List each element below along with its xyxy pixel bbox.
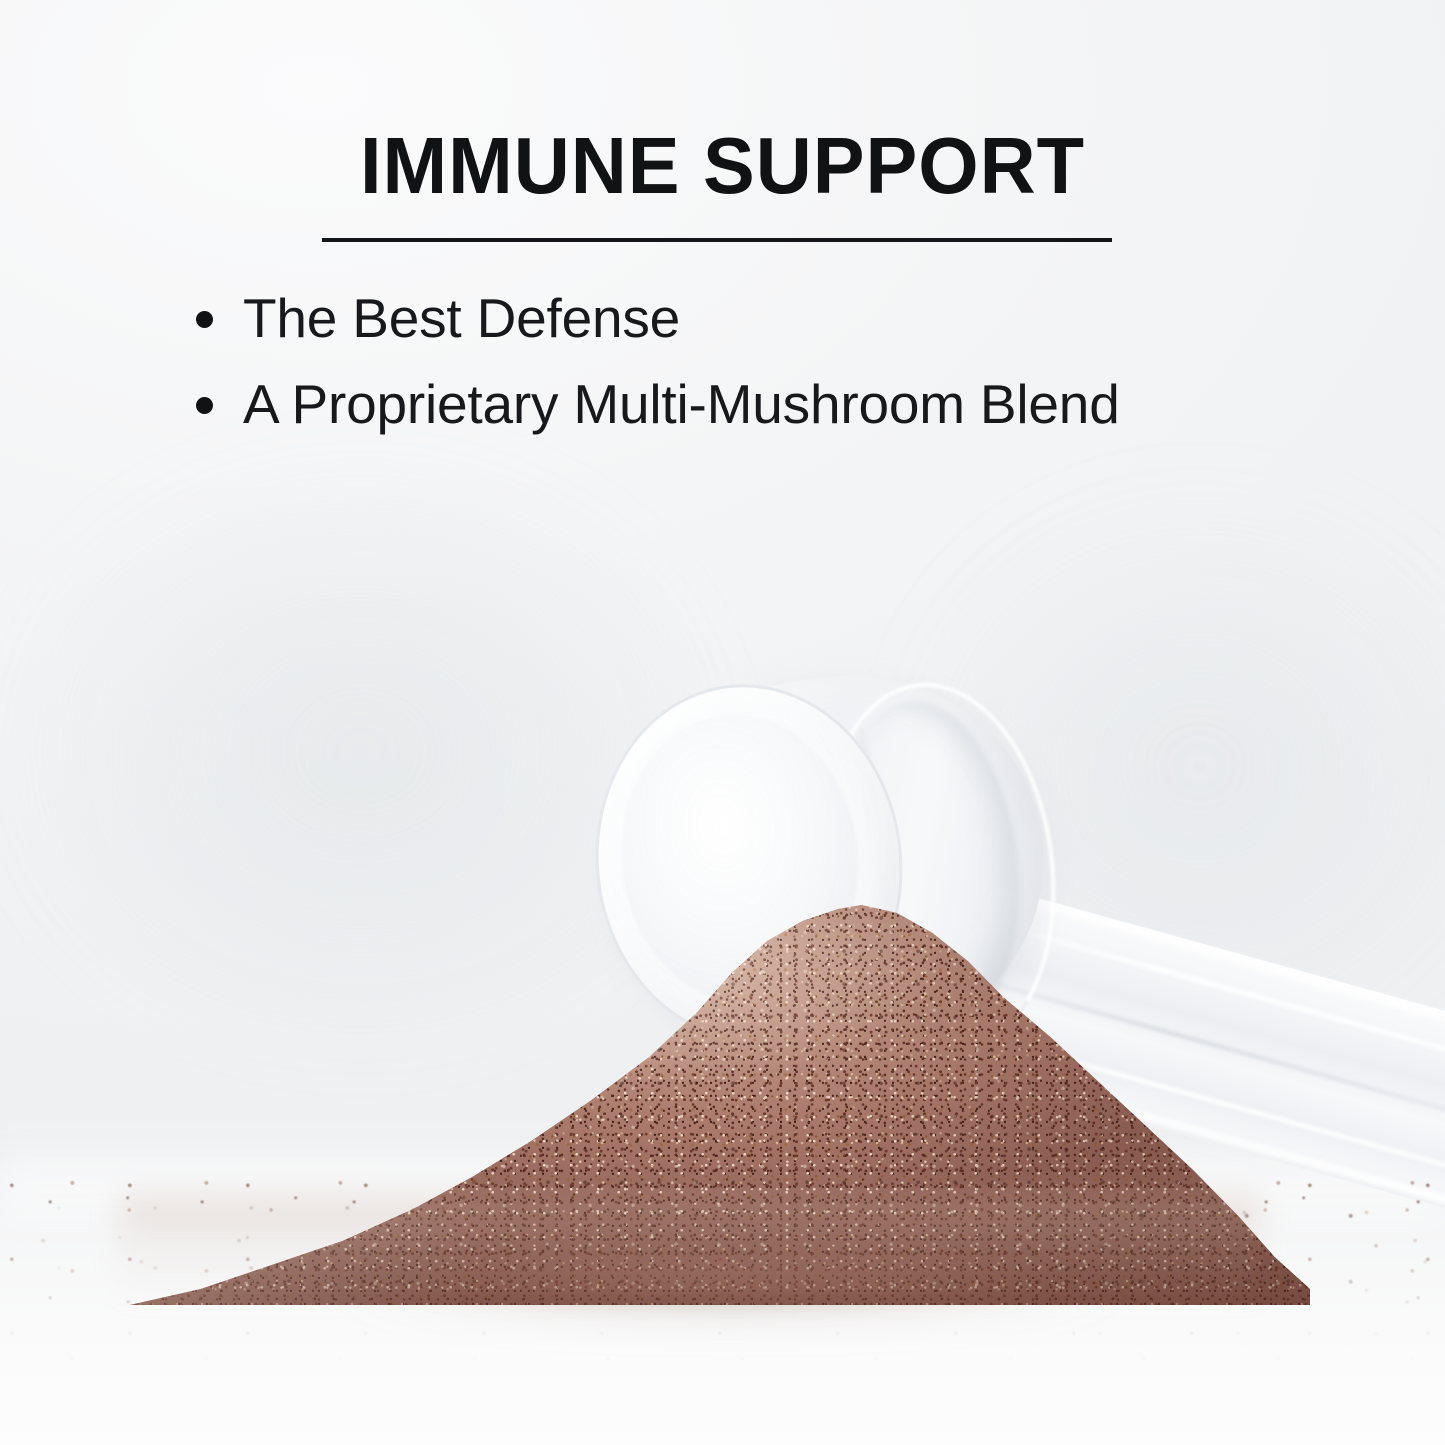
product-feature-image: IMMUNE SUPPORT The Best Defense A Propri…: [0, 0, 1445, 1445]
list-item: A Proprietary Multi-Mushroom Blend: [196, 374, 1316, 436]
page-title: IMMUNE SUPPORT: [22, 126, 1424, 206]
scattered-powder-grains-left: [40, 1190, 460, 1310]
bullet-label: The Best Defense: [243, 288, 680, 350]
scattered-powder-grains-right: [1020, 1200, 1445, 1350]
bullet-dot-icon: [196, 311, 213, 328]
bullet-label: A Proprietary Multi-Mushroom Blend: [243, 374, 1120, 436]
list-item: The Best Defense: [196, 288, 1316, 350]
feature-bullet-list: The Best Defense A Proprietary Multi-Mus…: [196, 288, 1316, 459]
bullet-dot-icon: [196, 397, 213, 414]
title-divider: [322, 238, 1112, 242]
